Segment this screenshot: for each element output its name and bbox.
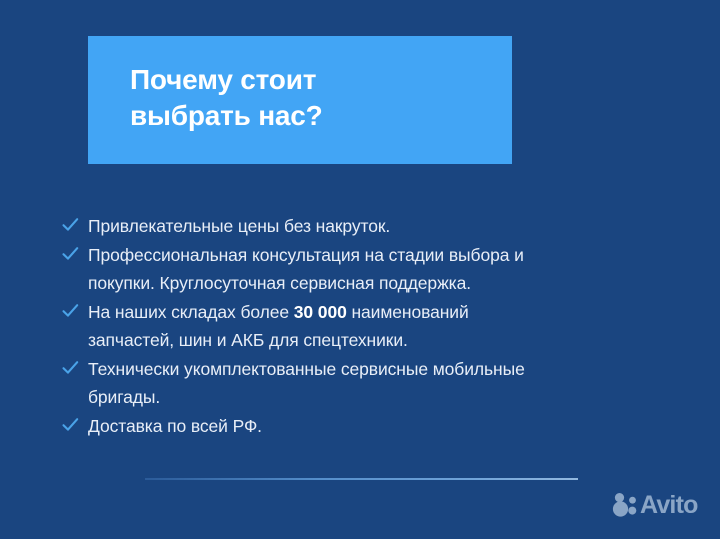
- list-item: Технически укомплектованные сервисные мо…: [62, 355, 672, 411]
- check-icon: [62, 241, 88, 269]
- slide-canvas: Почему стоит выбрать нас? Привлекательны…: [0, 0, 720, 539]
- highlight-number: 30 000: [294, 302, 347, 322]
- text-segment: запчастей, шин и АКБ для спецтехники.: [88, 330, 408, 350]
- text-segment: Профессиональная консультация на стадии …: [88, 245, 524, 265]
- text-segment: покупки. Круглосуточная сервисная поддер…: [88, 273, 471, 293]
- avito-wordmark: Avito: [640, 493, 698, 518]
- benefits-list: Привлекательные цены без накруток.Профес…: [62, 212, 672, 441]
- list-item-line: запчастей, шин и АКБ для спецтехники.: [88, 326, 672, 354]
- text-segment: наименований: [347, 302, 469, 322]
- check-icon: [62, 298, 88, 326]
- list-item-text: Привлекательные цены без накруток.: [88, 212, 672, 240]
- list-item-line: Привлекательные цены без накруток.: [88, 212, 672, 240]
- list-item-line: На наших складах более 30 000 наименован…: [88, 298, 672, 326]
- list-item-line: бригады.: [88, 383, 672, 411]
- text-segment: Доставка по всей РФ.: [88, 416, 262, 436]
- text-segment: бригады.: [88, 387, 160, 407]
- list-item: На наших складах более 30 000 наименован…: [62, 298, 672, 354]
- list-item-line: Доставка по всей РФ.: [88, 412, 672, 440]
- list-item-line: покупки. Круглосуточная сервисная поддер…: [88, 269, 672, 297]
- check-icon: [62, 355, 88, 383]
- text-segment: На наших складах более: [88, 302, 294, 322]
- list-item-line: Технически укомплектованные сервисные мо…: [88, 355, 672, 383]
- list-item: Доставка по всей РФ.: [62, 412, 672, 440]
- list-item-text: Доставка по всей РФ.: [88, 412, 672, 440]
- avito-watermark: Avito: [611, 492, 698, 518]
- check-icon: [62, 412, 88, 440]
- page-title-line-2: выбрать нас?: [130, 98, 512, 134]
- text-segment: Привлекательные цены без накруток.: [88, 216, 390, 236]
- page-title-line-1: Почему стоит: [130, 62, 512, 98]
- check-icon: [62, 212, 88, 240]
- text-segment: Технически укомплектованные сервисные мо…: [88, 359, 525, 379]
- list-item-text: Технически укомплектованные сервисные мо…: [88, 355, 672, 411]
- list-item-text: На наших складах более 30 000 наименован…: [88, 298, 672, 354]
- avito-dots-logo-icon: [611, 492, 638, 518]
- list-item: Профессиональная консультация на стадии …: [62, 241, 672, 297]
- list-item-line: Профессиональная консультация на стадии …: [88, 241, 672, 269]
- divider: [145, 478, 578, 480]
- list-item: Привлекательные цены без накруток.: [62, 212, 672, 240]
- title-banner: Почему стоит выбрать нас?: [88, 36, 512, 164]
- list-item-text: Профессиональная консультация на стадии …: [88, 241, 672, 297]
